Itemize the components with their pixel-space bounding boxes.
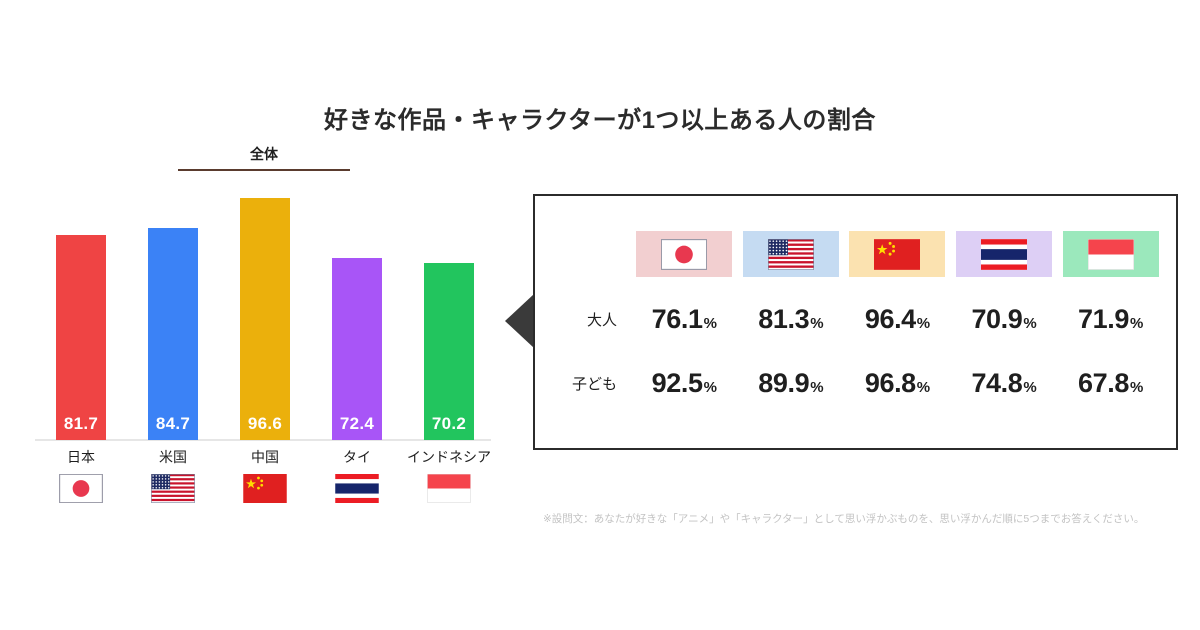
- bar-thailand: 72.4: [332, 258, 382, 440]
- percent-sign: %: [1023, 379, 1036, 396]
- panel-value-number: 71.9: [1078, 304, 1129, 334]
- panel-value-r1-c1: 76.1%: [631, 304, 738, 335]
- category-label: 日本: [67, 447, 95, 467]
- panel-value-r1-c3: 96.4%: [844, 304, 951, 335]
- flag-usa-tile: [743, 231, 839, 277]
- flag-china-icon: [243, 474, 287, 503]
- panel-flag-cell-5: [1057, 231, 1164, 277]
- flag-china-icon: [874, 239, 920, 270]
- callout-pointer-triangle: [505, 294, 534, 348]
- percent-sign: %: [1023, 315, 1036, 332]
- category-1: 日本: [35, 447, 127, 503]
- panel-row-label-2: 子ども: [559, 373, 631, 394]
- bar-column-5: 70.2: [403, 190, 495, 440]
- overall-group-label: 全体: [178, 144, 350, 169]
- percent-sign: %: [1130, 315, 1143, 332]
- flag-indonesia-icon: [1088, 239, 1134, 270]
- overall-group-rule: [178, 169, 350, 171]
- percent-sign: %: [704, 379, 717, 396]
- percent-sign: %: [704, 315, 717, 332]
- category-5: インドネシア: [403, 447, 495, 503]
- flag-usa-icon: [768, 239, 814, 270]
- panel-value-number: 70.9: [971, 304, 1022, 334]
- flag-usa-icon: [151, 474, 195, 503]
- bar-value-label: 96.6: [248, 414, 282, 440]
- category-label: インドネシア: [407, 447, 491, 467]
- percent-sign: %: [917, 379, 930, 396]
- bar-column-4: 72.4: [311, 190, 403, 440]
- bar-japan: 81.7: [56, 235, 106, 440]
- category-3: 中国: [219, 447, 311, 503]
- panel-value-number: 96.4: [865, 304, 916, 334]
- panel-value-r1-c4: 70.9%: [951, 304, 1058, 335]
- flag-thailand-icon: [335, 474, 379, 503]
- panel-row-label-1: 大人: [559, 309, 631, 330]
- panel-value-r1-c2: 81.3%: [738, 304, 845, 335]
- footnote: ※設問文：あなたが好きな「アニメ」や「キャラクター」として思い浮かぶものを、思い…: [543, 512, 1193, 527]
- panel-value-number: 74.8: [971, 368, 1022, 398]
- category-4: タイ: [311, 447, 403, 503]
- flag-china-tile: [849, 231, 945, 277]
- panel-value-r2-c3: 96.8%: [844, 368, 951, 399]
- category-axis: 日本米国中国タイインドネシア: [35, 447, 495, 503]
- flag-thailand-tile: [956, 231, 1052, 277]
- category-label: タイ: [343, 447, 371, 467]
- bar-usa: 84.7: [148, 228, 198, 440]
- flag-indonesia-tile: [1063, 231, 1159, 277]
- category-label: 米国: [159, 447, 187, 467]
- panel-value-r2-c5: 67.8%: [1057, 368, 1164, 399]
- panel-value-r1-c5: 71.9%: [1057, 304, 1164, 335]
- bar-value-label: 81.7: [64, 414, 98, 440]
- flag-indonesia-icon: [427, 474, 471, 503]
- panel-value-number: 96.8: [865, 368, 916, 398]
- panel-value-number: 76.1: [652, 304, 703, 334]
- percent-sign: %: [917, 315, 930, 332]
- category-label: 中国: [251, 447, 279, 467]
- bar-column-3: 96.6: [219, 190, 311, 440]
- detail-panel-grid: 大人76.1%81.3%96.4%70.9%71.9%子ども92.5%89.9%…: [559, 222, 1164, 434]
- panel-flag-cell-2: [738, 231, 845, 277]
- detail-panel: 大人76.1%81.3%96.4%70.9%71.9%子ども92.5%89.9%…: [533, 194, 1178, 450]
- flag-japan-icon: [59, 474, 103, 503]
- percent-sign: %: [810, 315, 823, 332]
- category-2: 米国: [127, 447, 219, 503]
- overall-group: 全体: [178, 144, 350, 171]
- panel-value-number: 67.8: [1078, 368, 1129, 398]
- panel-flag-cell-4: [951, 231, 1058, 277]
- panel-flag-cell-1: [631, 231, 738, 277]
- infographic-root: 好きな作品・キャラクターが1つ以上ある人の割合 全体 81.784.796.67…: [0, 0, 1200, 630]
- percent-sign: %: [1130, 379, 1143, 396]
- flag-japan-icon: [661, 239, 707, 270]
- panel-value-r2-c2: 89.9%: [738, 368, 845, 399]
- panel-value-number: 89.9: [758, 368, 809, 398]
- flag-japan-tile: [636, 231, 732, 277]
- bar-value-label: 72.4: [340, 414, 374, 440]
- panel-value-r2-c4: 74.8%: [951, 368, 1058, 399]
- bar-value-label: 84.7: [156, 414, 190, 440]
- bar-value-label: 70.2: [432, 414, 466, 440]
- bar-column-1: 81.7: [35, 190, 127, 440]
- percent-sign: %: [810, 379, 823, 396]
- bar-china: 96.6: [240, 198, 290, 440]
- bar-indonesia: 70.2: [424, 263, 474, 440]
- panel-value-number: 81.3: [758, 304, 809, 334]
- bar-chart: 81.784.796.672.470.2: [35, 190, 495, 440]
- panel-value-r2-c1: 92.5%: [631, 368, 738, 399]
- page-title: 好きな作品・キャラクターが1つ以上ある人の割合: [0, 100, 1200, 135]
- bar-column-2: 84.7: [127, 190, 219, 440]
- flag-thailand-icon: [981, 239, 1027, 270]
- panel-value-number: 92.5: [652, 368, 703, 398]
- panel-flag-cell-3: [844, 231, 951, 277]
